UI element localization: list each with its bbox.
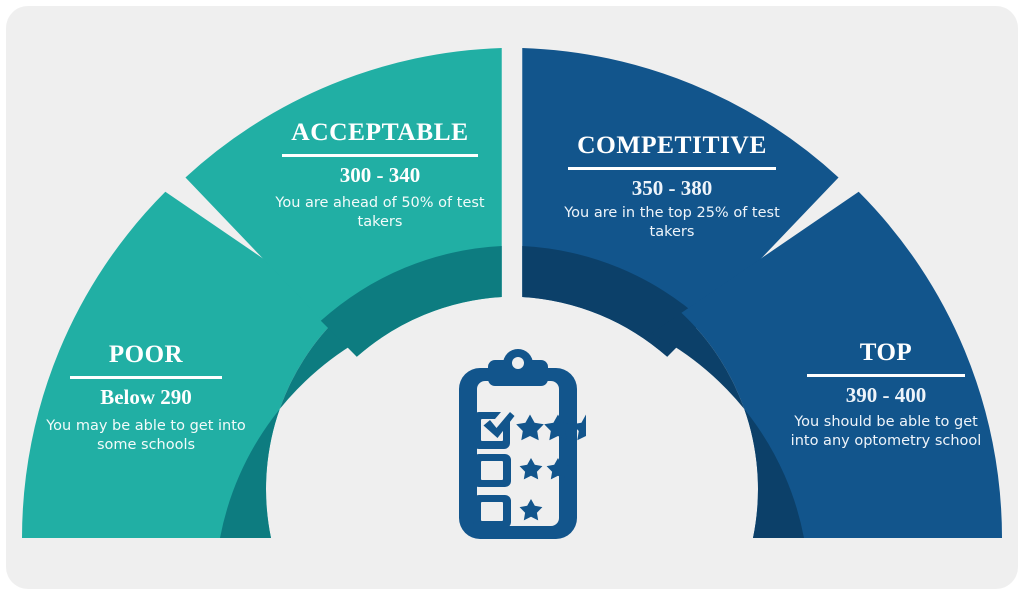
segment-divider-acceptable	[282, 154, 478, 157]
segment-label-poor: POOR Below 290 You may be able to get in…	[36, 341, 256, 454]
segment-description-top: You should be able to get into any optom…	[780, 413, 992, 450]
segment-description-competitive: You are in the top 25% of test takers	[556, 204, 788, 241]
segment-title-competitive: COMPETITIVE	[556, 130, 788, 160]
segment-divider-poor	[70, 376, 222, 379]
segment-title-acceptable: ACCEPTABLE	[268, 117, 492, 147]
segment-range-poor: Below 290	[36, 385, 256, 410]
segment-description-poor: You may be able to get into some schools	[36, 417, 256, 454]
segment-label-acceptable: ACCEPTABLE 300 - 340 You are ahead of 50…	[268, 117, 492, 231]
segment-title-poor: POOR	[36, 341, 256, 369]
segment-label-competitive: COMPETITIVE 350 - 380 You are in the top…	[556, 130, 788, 241]
segment-range-competitive: 350 - 380	[556, 176, 788, 201]
segment-title-top: TOP	[780, 339, 992, 367]
segment-divider-competitive	[568, 167, 776, 170]
segment-divider-top	[807, 374, 965, 377]
segment-range-acceptable: 300 - 340	[268, 163, 492, 188]
clipboard-checklist-stars-icon	[450, 348, 586, 540]
segment-range-top: 390 - 400	[780, 383, 992, 408]
segment-label-top: TOP 390 - 400 You should be able to get …	[780, 339, 992, 450]
segment-description-acceptable: You are ahead of 50% of test takers	[268, 194, 492, 231]
score-gauge: POOR Below 290 You may be able to get in…	[0, 0, 1024, 595]
